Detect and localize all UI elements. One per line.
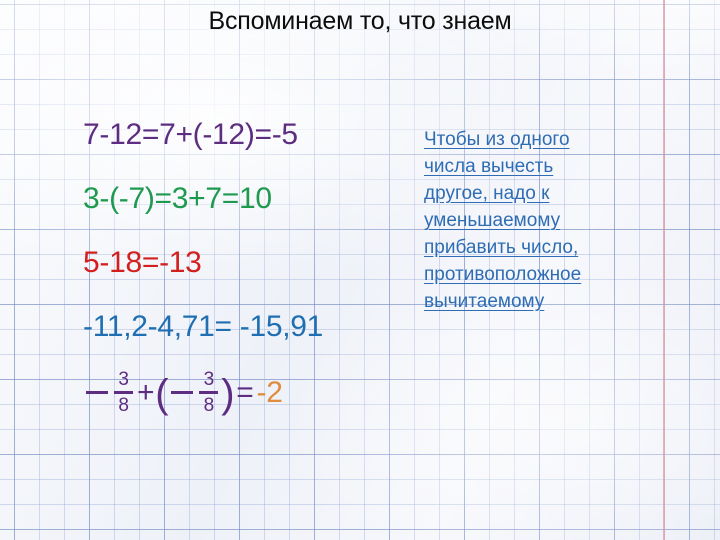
fraction-three-eighths-first: 3 8 <box>114 370 133 415</box>
fraction-numerator: 3 <box>204 370 214 390</box>
fraction-denominator: 8 <box>204 395 214 415</box>
leading-minus-sign <box>86 391 108 394</box>
fraction-bar <box>114 391 133 394</box>
rule-line: числа вычесть <box>424 153 620 180</box>
fraction-result: -2 <box>254 378 283 408</box>
slide-title: Вспоминаем то, что знаем <box>0 6 720 36</box>
equations-list: 7-12=7+(-12)=-5 3-(-7)=3+7=10 5-18=-13 -… <box>83 118 413 415</box>
inner-minus-sign <box>171 391 193 394</box>
fraction-numerator: 3 <box>118 370 128 390</box>
fraction-denominator: 8 <box>118 395 128 415</box>
paper-margin-rule <box>663 0 665 540</box>
rule-line: другое, надо к <box>424 180 620 207</box>
rule-line: вычитаемому <box>424 288 620 315</box>
fraction-three-eighths-second: 3 8 <box>199 370 218 415</box>
equation-line-5-fraction: 3 8 + ( 3 8 ) = -2 <box>83 370 413 415</box>
rule-line: Чтобы из одного <box>424 126 620 153</box>
rule-text-block: Чтобы из одного числа вычесть другое, на… <box>424 126 620 315</box>
equation-line-1: 7-12=7+(-12)=-5 <box>83 118 413 152</box>
equation-line-4: -11,2-4,71= -15,91 <box>83 310 413 344</box>
rule-line: противоположное <box>424 261 620 288</box>
equals-sign: = <box>234 378 253 408</box>
plus-sign: + <box>136 378 155 408</box>
close-paren: ) <box>221 379 234 409</box>
open-paren: ( <box>155 379 168 409</box>
equation-line-3: 5-18=-13 <box>83 246 413 280</box>
slide-canvas: Вспоминаем то, что знаем 7-12=7+(-12)=-5… <box>0 0 720 540</box>
rule-line: прибавить число, <box>424 234 620 261</box>
fraction-bar <box>199 391 218 394</box>
equation-line-2: 3-(-7)=3+7=10 <box>83 182 413 216</box>
rule-line: уменьшаемому <box>424 207 620 234</box>
